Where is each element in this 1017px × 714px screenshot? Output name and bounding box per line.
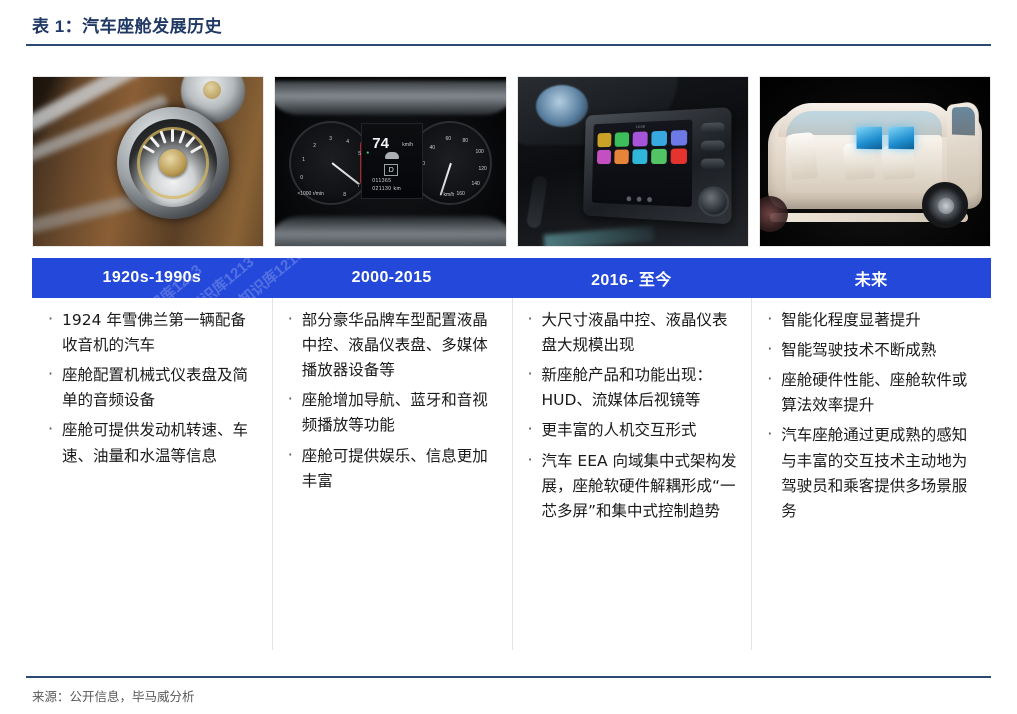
- tach-tick-0: 0: [300, 175, 303, 181]
- tach-tick-3: 3: [329, 136, 332, 142]
- odometer-primary: 011365: [372, 178, 391, 184]
- tach-unit: ×1000 r/min: [297, 191, 324, 197]
- apps-app-icon[interactable]: [614, 149, 629, 164]
- steering-wheel-top: [274, 81, 506, 115]
- speedo-unit: km/h: [444, 192, 455, 198]
- speedo-tick-3: 60: [446, 136, 452, 142]
- table-column-2016-now: 大尺寸液晶中控、液晶仪表盘大规模出现 新座舱产品和功能出现：HUD、流媒体后视镜…: [512, 298, 752, 658]
- speed-value: 74: [372, 135, 389, 152]
- speedo-tick-2: 40: [430, 145, 436, 151]
- touchscreen-display[interactable]: 10:08: [591, 120, 692, 208]
- speedo-tick-4: 80: [463, 138, 469, 144]
- messages-app-icon[interactable]: [651, 149, 667, 164]
- bullet-list: 大尺寸液晶中控、液晶仪表盘大规模出现 新座舱产品和功能出现：HUD、流媒体后视镜…: [526, 308, 738, 524]
- tach-tick-8: 8: [343, 192, 346, 198]
- table-header-2016-now: 2016- 至今: [512, 258, 752, 298]
- photo-center-console-touchscreen: 10:08: [517, 76, 749, 247]
- tach-tick-4: 4: [346, 139, 349, 145]
- photo-modern-instrument-cluster: 0 1 2 3 4 5 6 7 8 ×1000 r/min 0 20 40 60…: [274, 76, 506, 247]
- list-item: 1924 年雪佛兰第一辆配备收音机的汽车: [46, 308, 258, 358]
- gear-indicator: D: [384, 164, 398, 176]
- list-item: 座舱可提供发动机转速、车速、油量和水温等信息: [46, 418, 258, 468]
- seatbelt-icon: [385, 152, 399, 159]
- navigation-app-icon[interactable]: [670, 148, 686, 164]
- table-header-1920s-1990s: 1920s-1990s: [32, 258, 272, 298]
- hard-button-column: [700, 122, 724, 169]
- speedo-tick-5: 100: [476, 149, 484, 155]
- list-item: 座舱可提供娱乐、信息更加丰富: [286, 444, 498, 494]
- home-dot-icon: [647, 197, 652, 202]
- list-item: 座舱配置机械式仪表盘及简单的音频设备: [46, 363, 258, 413]
- music-app-icon[interactable]: [632, 131, 647, 146]
- list-item: 智能化程度显著提升: [765, 308, 977, 333]
- front-seat: [788, 132, 818, 180]
- footer-divider: [26, 676, 991, 678]
- table-header-2000-2015: 2000-2015: [272, 258, 512, 298]
- steering-wheel-bottom: [274, 216, 506, 247]
- photo-vintage-wood-dashboard-gauge: [32, 76, 264, 247]
- speedo-tick-8: 160: [457, 191, 465, 197]
- list-item: 汽车 EEA 向域集中式架构发展，座舱软硬件解耦形成“一芯多屏”和集中式控制趋势: [526, 449, 738, 524]
- photo-cutaway-concept-car-interior: [759, 76, 991, 247]
- home-dot-icon: [626, 196, 631, 201]
- list-item: 新座舱产品和功能出现：HUD、流媒体后视镜等: [526, 363, 738, 413]
- table-header-row: 1920s-1990s 2000-2015 2016- 至今 未来: [32, 258, 991, 298]
- secondary-gauge-hub: [203, 81, 221, 99]
- list-item: 部分豪华品牌车型配置液晶中控、液晶仪表盘、多媒体播放器设备等: [286, 308, 498, 383]
- eco-indicator-icon: ●: [366, 150, 369, 156]
- list-item: 座舱增加导航、蓝牙和音视频播放等功能: [286, 388, 498, 438]
- bluetooth-app-icon[interactable]: [632, 149, 647, 164]
- table-column-future: 智能化程度显著提升 智能驾驶技术不断成熟 座舱硬件性能、座舱软件或算法效率提升 …: [751, 298, 991, 658]
- rear-entertainment-screen: [856, 127, 881, 150]
- odometer-trip: 021130 km: [372, 186, 401, 192]
- contacts-app-icon[interactable]: [596, 150, 610, 164]
- steering-wheel: [536, 85, 588, 127]
- rear-entertainment-screen: [888, 127, 913, 150]
- figure-page: 表 1：汽车座舱发展历史: [0, 0, 1017, 714]
- ambient-light-strip: [543, 225, 654, 247]
- app-icon-grid: [596, 130, 686, 164]
- title-divider: [26, 44, 991, 46]
- rear-seat: [881, 144, 915, 180]
- list-item: 智能驾驶技术不断成熟: [765, 338, 977, 363]
- list-item: 更丰富的人机交互形式: [526, 418, 738, 443]
- hard-button[interactable]: [700, 159, 724, 170]
- screen-clock: 10:08: [635, 124, 644, 129]
- cluster-center-display: 74 km/h ● D 011365 021130 km: [361, 123, 423, 199]
- tach-tick-1: 1: [302, 157, 305, 163]
- list-item: 座舱硬件性能、座舱软件或算法效率提升: [765, 368, 977, 418]
- gauge-tick: [171, 129, 174, 142]
- head-unit-bezel: 10:08: [583, 107, 732, 224]
- bullet-list: 1924 年雪佛兰第一辆配备收音机的汽车 座舱配置机械式仪表盘及简单的音频设备 …: [46, 308, 258, 469]
- tach-tick-7: 7: [357, 183, 360, 189]
- gear-shifter: [526, 175, 548, 229]
- photo-strip: 0 1 2 3 4 5 6 7 8 ×1000 r/min 0 20 40 60…: [32, 76, 991, 247]
- home-dot-icon: [636, 197, 641, 202]
- gauge-brass-hub: [159, 149, 187, 177]
- list-item: 汽车座舱通过更成熟的感知与丰富的交互技术主动地为驾驶员和乘客提供多场景服务: [765, 423, 977, 523]
- hard-button[interactable]: [700, 140, 724, 151]
- table-header-future: 未来: [751, 258, 991, 298]
- rear-wheel: [922, 182, 968, 228]
- tach-tick-2: 2: [313, 143, 316, 149]
- speedometer-needle: [439, 163, 451, 196]
- front-wheel: [759, 196, 788, 232]
- radio-app-icon[interactable]: [597, 133, 611, 147]
- table-column-2000-2015: 部分豪华品牌车型配置液晶中控、液晶仪表盘、多媒体播放器设备等 座舱增加导航、蓝牙…: [272, 298, 512, 658]
- speedo-tick-7: 140: [472, 181, 480, 187]
- screen-home-dots: [626, 196, 651, 202]
- list-item: 大尺寸液晶中控、液晶仪表盘大规模出现: [526, 308, 738, 358]
- bullet-list: 部分豪华品牌车型配置液晶中控、液晶仪表盘、多媒体播放器设备等 座舱增加导航、蓝牙…: [286, 308, 498, 494]
- table-body: 1924 年雪佛兰第一辆配备收音机的汽车 座舱配置机械式仪表盘及简单的音频设备 …: [32, 298, 991, 658]
- page-title: 表 1：汽车座舱发展历史: [32, 12, 222, 37]
- table-column-1920s-1990s: 1924 年雪佛兰第一辆配备收音机的汽车 座舱配置机械式仪表盘及简单的音频设备 …: [32, 298, 272, 658]
- settings-app-icon[interactable]: [670, 130, 686, 146]
- media-app-icon[interactable]: [651, 131, 667, 146]
- rotary-control-knob[interactable]: [698, 186, 729, 217]
- speedo-tick-6: 120: [479, 166, 487, 172]
- source-note: 来源：公开信息，毕马威分析: [32, 686, 195, 705]
- bullet-list: 智能化程度显著提升 智能驾驶技术不断成熟 座舱硬件性能、座舱软件或算法效率提升 …: [765, 308, 977, 524]
- hard-button[interactable]: [700, 122, 724, 133]
- speed-unit: km/h: [402, 142, 413, 148]
- rear-door-glass: [952, 106, 975, 135]
- phone-app-icon[interactable]: [614, 132, 629, 147]
- tachometer-needle: [332, 162, 360, 185]
